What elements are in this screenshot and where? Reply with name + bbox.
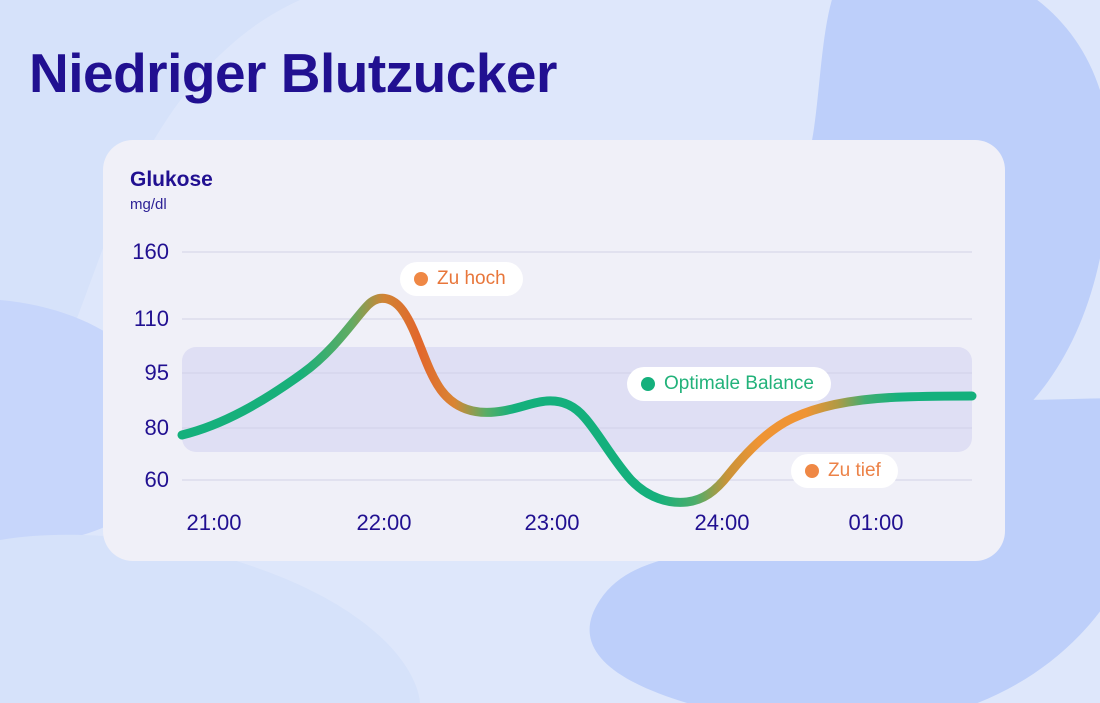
y-tick-60: 60 bbox=[103, 469, 169, 491]
status-dot-low-icon bbox=[805, 464, 819, 478]
x-tick-2300: 23:00 bbox=[524, 512, 579, 534]
badge-zu-hoch[interactable]: Zu hoch bbox=[400, 262, 523, 296]
x-tick-2100: 21:00 bbox=[186, 512, 241, 534]
x-tick-0100: 01:00 bbox=[848, 512, 903, 534]
badge-optimale-balance[interactable]: Optimale Balance bbox=[627, 367, 831, 401]
y-tick-80: 80 bbox=[103, 417, 169, 439]
y-tick-160: 160 bbox=[103, 241, 169, 263]
status-dot-high-icon bbox=[414, 272, 428, 286]
y-axis: 160 110 95 80 60 21:00 22:00 23:00 24:00… bbox=[103, 140, 1005, 561]
x-tick-2400: 24:00 bbox=[694, 512, 749, 534]
badge-label-balance: Optimale Balance bbox=[664, 374, 814, 393]
y-tick-95: 95 bbox=[103, 362, 169, 384]
status-dot-balance-icon bbox=[641, 377, 655, 391]
badge-zu-tief[interactable]: Zu tief bbox=[791, 454, 898, 488]
x-tick-2200: 22:00 bbox=[356, 512, 411, 534]
page-title: Niedriger Blutzucker bbox=[29, 42, 557, 105]
y-tick-110: 110 bbox=[103, 308, 169, 330]
badge-label-high: Zu hoch bbox=[437, 269, 506, 288]
glucose-chart-card: Glukose mg/dl bbox=[103, 140, 1005, 561]
badge-label-low: Zu tief bbox=[828, 461, 881, 480]
